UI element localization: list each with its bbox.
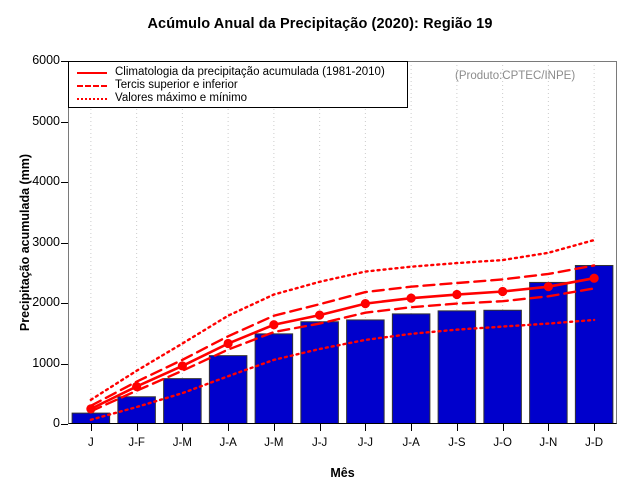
legend-label: Valores máximo e mínimo <box>115 92 247 105</box>
y-tick-label: 1000 <box>2 356 60 370</box>
data-point-marker <box>86 404 95 413</box>
bar <box>255 334 293 424</box>
y-tick-mark <box>61 424 68 425</box>
y-tick-mark <box>61 364 68 365</box>
chart-canvas <box>68 61 617 424</box>
y-tick-label: 4000 <box>2 174 60 188</box>
legend-line-dashed-icon <box>75 80 109 92</box>
x-tick-mark <box>594 424 595 431</box>
x-tick-mark <box>320 424 321 431</box>
bar <box>347 320 385 424</box>
x-tick-mark <box>182 424 183 431</box>
legend-line-solid-icon <box>75 67 109 79</box>
legend-label: Tercis superior e inferior <box>115 79 238 92</box>
bar <box>164 379 202 424</box>
chart-figure: Acúmulo Anual da Precipitação (2020): Re… <box>0 0 640 500</box>
x-tick-mark <box>503 424 504 431</box>
data-point-marker <box>361 299 370 308</box>
y-tick-label: 0 <box>2 416 60 430</box>
data-point-marker <box>452 290 461 299</box>
y-tick-mark <box>61 61 68 62</box>
x-tick-mark <box>91 424 92 431</box>
y-tick-mark <box>61 182 68 183</box>
data-point-marker <box>269 320 278 329</box>
bar <box>530 282 568 424</box>
data-point-marker <box>178 361 187 370</box>
data-point-marker <box>544 282 553 291</box>
legend-line-dotted-icon <box>75 93 109 105</box>
data-point-marker <box>224 339 233 348</box>
legend-item-maxmin: Valores máximo e mínimo <box>75 92 401 105</box>
y-tick-label: 6000 <box>2 53 60 67</box>
x-tick-mark <box>137 424 138 431</box>
chart-legend: Climatologia da precipitação acumulada (… <box>68 61 408 108</box>
bar <box>301 322 339 424</box>
data-point-marker <box>315 311 324 320</box>
x-tick-mark <box>365 424 366 431</box>
data-point-marker <box>132 382 141 391</box>
bar <box>575 265 613 424</box>
y-tick-label: 3000 <box>2 235 60 249</box>
legend-item-tercis: Tercis superior e inferior <box>75 79 401 92</box>
x-tick-mark <box>548 424 549 431</box>
x-tick-mark <box>274 424 275 431</box>
bar <box>392 314 430 424</box>
x-tick-mark <box>411 424 412 431</box>
data-point-marker <box>407 294 416 303</box>
legend-item-climatology: Climatologia da precipitação acumulada (… <box>75 66 401 79</box>
data-point-marker <box>498 287 507 296</box>
x-tick-mark <box>457 424 458 431</box>
bar <box>118 397 156 424</box>
y-tick-label: 5000 <box>2 114 60 128</box>
y-tick-mark <box>61 303 68 304</box>
bar <box>209 356 247 424</box>
y-tick-mark <box>61 243 68 244</box>
legend-label: Climatologia da precipitação acumulada (… <box>115 66 385 79</box>
data-point-marker <box>590 274 599 283</box>
y-tick-label: 2000 <box>2 295 60 309</box>
x-tick-mark <box>228 424 229 431</box>
y-axis-tick-labels: 0100020003000400050006000 <box>0 0 60 500</box>
y-tick-mark <box>61 122 68 123</box>
plot-area <box>68 61 617 424</box>
x-tick-label: J-D <box>564 437 624 449</box>
watermark-text: (Produto:CPTEC/INPE) <box>455 70 575 82</box>
